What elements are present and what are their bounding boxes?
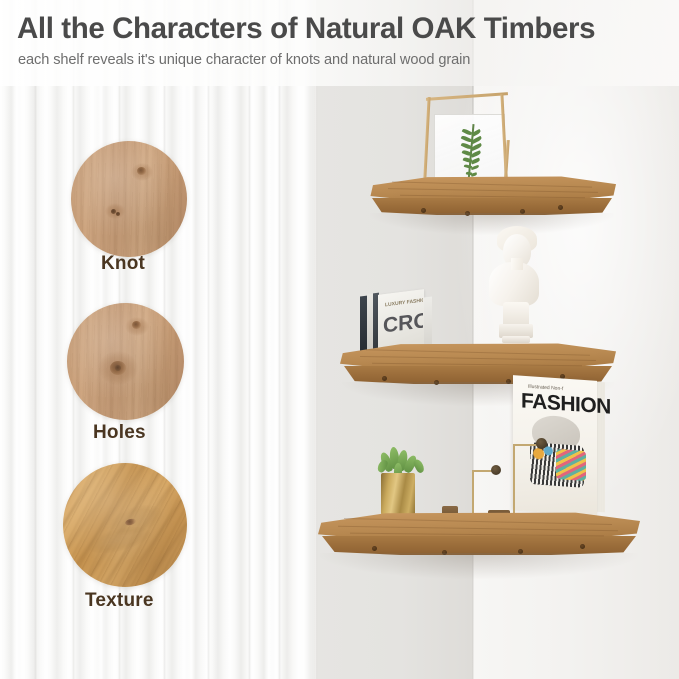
brass-pot bbox=[381, 473, 415, 516]
magazine-cover-text: CRO bbox=[383, 310, 423, 339]
curtain-edge bbox=[296, 0, 318, 679]
sample-label-knot: Knot bbox=[101, 253, 361, 275]
page-subtitle: each shelf reveals it's unique character… bbox=[18, 52, 668, 68]
curtain-fold bbox=[278, 0, 281, 679]
oak-texture-swatch bbox=[63, 463, 187, 587]
page-title: All the Characters of Natural OAK Timber… bbox=[17, 13, 667, 45]
top-shelf-shadow bbox=[370, 213, 614, 235]
lamp-shade-tall bbox=[536, 438, 547, 449]
lamp-stem bbox=[472, 471, 474, 517]
shelf-screw bbox=[558, 205, 563, 210]
shelf-screw bbox=[382, 376, 387, 381]
sample-label-holes: Holes bbox=[93, 422, 353, 444]
oak-holes-swatch bbox=[67, 303, 184, 420]
curtain-highlight bbox=[12, 0, 22, 679]
lamp-shade bbox=[491, 465, 501, 475]
curtain-fold bbox=[34, 0, 37, 679]
oak-knot-swatch bbox=[71, 141, 187, 257]
curtain-fold bbox=[248, 0, 251, 679]
fern-print-art bbox=[455, 122, 487, 184]
lamp-stem-tall bbox=[513, 445, 515, 515]
shelf-screw bbox=[580, 544, 585, 549]
header-band: All the Characters of Natural OAK Timber… bbox=[0, 0, 679, 86]
shelf-screw bbox=[372, 546, 377, 551]
curtain-highlight bbox=[264, 0, 274, 679]
sample-label-texture: Texture bbox=[85, 590, 345, 612]
bottom-shelf-shadow bbox=[320, 553, 638, 579]
infographic-stage: CRO LUXURY FASHION Illustrated Non-f FAS… bbox=[0, 0, 679, 679]
curtain-fold bbox=[207, 0, 210, 679]
curtain-highlight bbox=[186, 0, 196, 679]
